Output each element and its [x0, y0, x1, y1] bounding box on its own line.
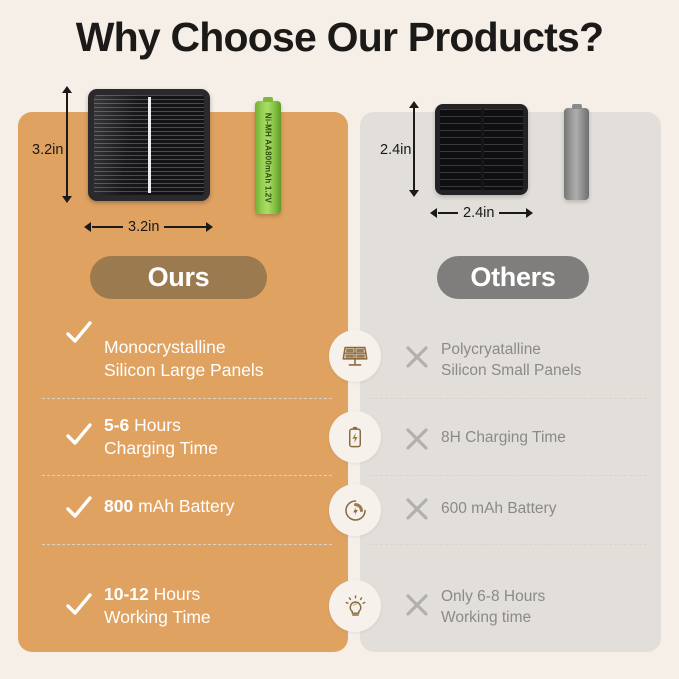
feature-row: 10-12 Hours Working Time Only 6-8 Hours … [0, 562, 679, 642]
others-feature-text: Only 6-8 Hours Working time [441, 586, 545, 628]
cross-icon [404, 496, 430, 522]
ours-height-dim-line [66, 92, 68, 198]
ours-feature-line2: Silicon Large Panels [104, 359, 264, 382]
ours-feature-text: Monocrystalline Silicon Large Panels [104, 336, 264, 382]
battery-positive-terminal [263, 97, 273, 102]
others-feature-line2: Working time [441, 607, 545, 628]
solar-busbar [148, 97, 151, 193]
ours-solar-panel-image [88, 89, 210, 201]
cross-icon [404, 344, 430, 370]
ours-height-arrow-down [62, 196, 72, 203]
others-height-label: 2.4in [380, 142, 411, 158]
check-icon [64, 318, 94, 348]
ours-feature-line1: Hours [149, 584, 201, 604]
check-icon [64, 590, 94, 620]
check-icon [64, 420, 94, 450]
others-feature-line1: 600 mAh Battery [441, 498, 556, 519]
ours-height-arrow-up [62, 86, 72, 93]
ours-feature-line1: Monocrystalline [104, 337, 226, 357]
ours-feature-text: 5-6 Hours Charging Time [104, 414, 218, 460]
row-divider-right [370, 475, 647, 476]
others-width-label: 2.4in [458, 205, 499, 221]
others-feature-text: Polycryatalline Silicon Small Panels [441, 339, 581, 381]
ours-feature-line1: mAh Battery [133, 496, 234, 516]
row-divider-left [42, 475, 332, 476]
solar-panel-icon [329, 330, 381, 382]
feature-rows: Monocrystalline Silicon Large Panels [0, 318, 679, 642]
others-width-arrow-right [526, 208, 533, 218]
ours-width-label: 3.2in [123, 219, 164, 235]
others-badge: Others [437, 256, 589, 299]
cross-icon [404, 426, 430, 452]
comparison-infographic: Why Choose Our Products? 3.2in 3.2in Ni-… [0, 0, 679, 679]
ours-feature-highlight: 800 [104, 496, 133, 516]
row-divider-left [42, 398, 332, 399]
ours-feature-line2: Charging Time [104, 437, 218, 460]
row-divider-right [370, 398, 647, 399]
charge-cycle-icon [329, 484, 381, 536]
ours-width-arrow-left [84, 222, 91, 232]
others-feature-line1: 8H Charging Time [441, 427, 566, 448]
feature-row: 5-6 Hours Charging Time 8H Charging Time [0, 402, 679, 482]
row-divider-left [42, 544, 332, 545]
check-icon [64, 493, 94, 523]
battery-positive-terminal [572, 104, 582, 109]
cross-icon [404, 592, 430, 618]
ours-height-label: 3.2in [32, 142, 63, 158]
others-battery-image [564, 108, 589, 200]
row-divider-right [370, 544, 647, 545]
ours-feature-line2: Working Time [104, 606, 211, 629]
others-feature-text: 600 mAh Battery [441, 498, 556, 519]
ours-badge: Ours [90, 256, 267, 299]
ours-feature-highlight: 5-6 [104, 415, 129, 435]
others-feature-line1: Polycryatalline [441, 339, 581, 360]
ours-feature-line1: Hours [129, 415, 181, 435]
others-height-dim-line [413, 107, 415, 192]
others-feature-line2: Silicon Small Panels [441, 360, 581, 381]
others-width-arrow-left [430, 208, 437, 218]
battery-charging-icon [329, 411, 381, 463]
others-solar-panel-image [435, 104, 528, 195]
others-height-arrow-up [409, 101, 419, 108]
others-feature-text: 8H Charging Time [441, 427, 566, 448]
others-feature-line1: Only 6-8 Hours [441, 586, 545, 607]
feature-row: 800 mAh Battery 600 mAh Battery [0, 482, 679, 562]
ours-battery-label: Ni-MH AA800mAh 1.2V [264, 112, 273, 202]
ours-battery-image: Ni-MH AA800mAh 1.2V [255, 101, 281, 214]
ours-width-arrow-right [206, 222, 213, 232]
ours-feature-text: 10-12 Hours Working Time [104, 583, 211, 629]
others-height-arrow-down [409, 190, 419, 197]
solar-cell-gap [481, 109, 484, 190]
lightbulb-icon [329, 580, 381, 632]
ours-feature-highlight: 10-12 [104, 584, 149, 604]
ours-feature-text: 800 mAh Battery [104, 495, 234, 518]
feature-row: Monocrystalline Silicon Large Panels [0, 318, 679, 402]
